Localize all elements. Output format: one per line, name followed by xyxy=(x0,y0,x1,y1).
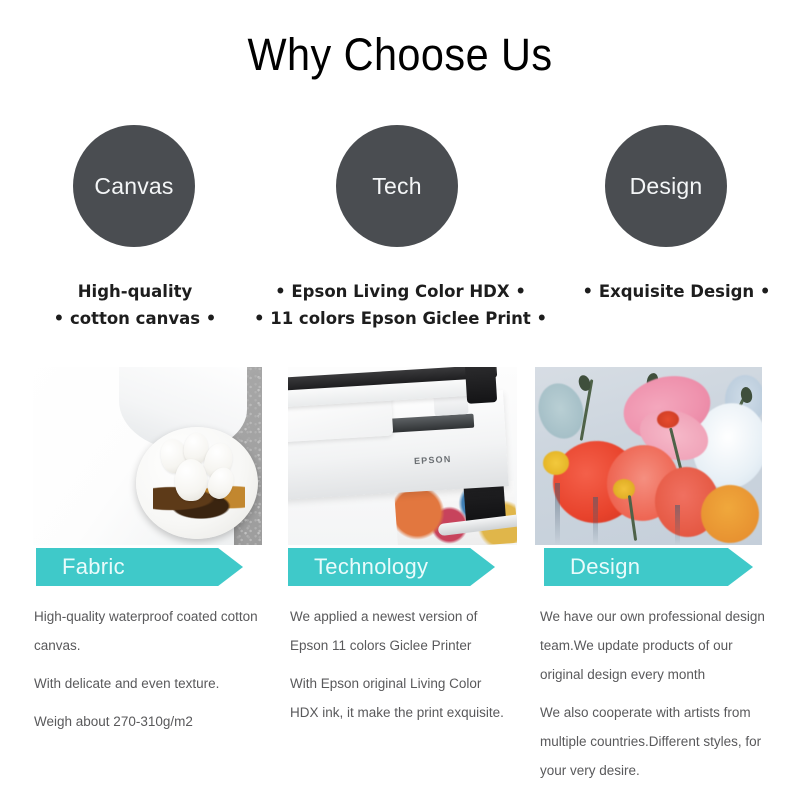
feature-description-fabric: High-quality waterproof coated cotton ca… xyxy=(34,602,266,736)
feature-caption-design: • Exquisite Design • xyxy=(553,278,800,305)
feature-circle-design: Design xyxy=(605,125,727,247)
feature-image-fabric xyxy=(33,367,262,545)
description-paragraph: High-quality waterproof coated cotton ca… xyxy=(34,602,266,660)
description-paragraph: We have our own professional design team… xyxy=(540,602,768,689)
feature-circle-row: Canvas Tech Design xyxy=(0,125,800,250)
printer-right-module-shape xyxy=(465,367,497,404)
description-paragraph: With Epson original Living Color HDX ink… xyxy=(290,669,512,727)
banner-label: Technology xyxy=(288,556,428,578)
feature-caption-fabric: High-quality • cotton canvas • xyxy=(0,278,270,332)
banner-label: Fabric xyxy=(36,556,125,578)
banner-label: Design xyxy=(544,556,640,578)
caption-line: • 11 colors Epson Giclee Print • xyxy=(248,305,553,332)
cotton-boll-shape xyxy=(175,459,207,501)
feature-caption-tech: • Epson Living Color HDX • • 11 colors E… xyxy=(248,278,553,332)
feature-image-technology: EPSON xyxy=(288,367,517,545)
feature-image-design xyxy=(535,367,762,545)
description-paragraph: We applied a newest version of Epson 11 … xyxy=(290,602,512,660)
caption-line: • cotton canvas • xyxy=(0,305,270,332)
description-paragraph: We also cooperate with artists from mult… xyxy=(540,698,768,785)
description-paragraph: Weigh about 270-310g/m2 xyxy=(34,707,266,736)
page-title: Why Choose Us xyxy=(32,28,768,82)
description-paragraph: With delicate and even texture. xyxy=(34,669,266,698)
feature-circle-tech: Tech xyxy=(336,125,458,247)
painting-drip-shape xyxy=(675,505,680,545)
caption-line: • Exquisite Design • xyxy=(553,278,800,305)
feature-description-technology: We applied a newest version of Epson 11 … xyxy=(290,602,512,727)
feature-circle-label: Design xyxy=(630,175,703,198)
painting-drip-shape xyxy=(555,483,560,545)
caption-line: High-quality xyxy=(0,278,270,305)
banner-fabric: Fabric xyxy=(36,548,243,586)
feature-description-design: We have our own professional design team… xyxy=(540,602,768,785)
painting-flower-center-shape xyxy=(613,479,635,499)
feature-circle-label: Canvas xyxy=(94,175,173,198)
banner-design: Design xyxy=(544,548,753,586)
banner-technology: Technology xyxy=(288,548,495,586)
painting-flower-center-shape xyxy=(543,451,569,475)
caption-line: • Epson Living Color HDX • xyxy=(248,278,553,305)
feature-circle-canvas: Canvas xyxy=(73,125,195,247)
infographic-page: Why Choose Us Canvas Tech Design High-qu… xyxy=(0,0,800,812)
painting-drip-shape xyxy=(593,497,598,545)
painting-flower-center-shape xyxy=(657,411,679,428)
feature-circle-label: Tech xyxy=(372,175,421,198)
